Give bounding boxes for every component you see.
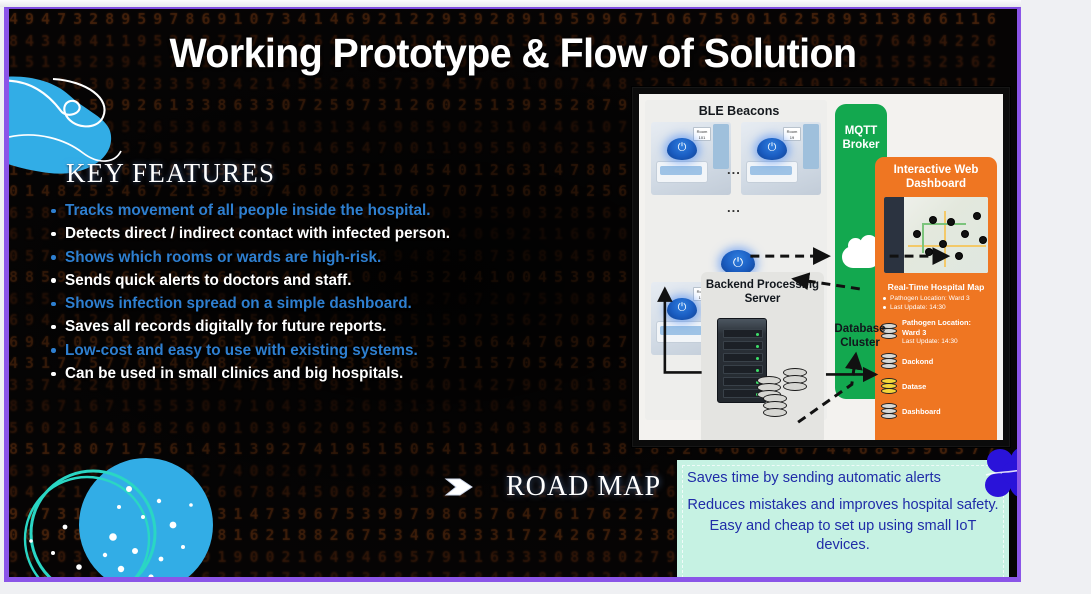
feature-list-item: Detects direct / indirect contact with i… <box>45 222 605 245</box>
db-cluster-line2: Cluster <box>840 337 880 349</box>
feature-list-item: Saves all records digitally for future r… <box>45 315 605 338</box>
feature-list-item: Can be used in small clinics and big hos… <box>45 362 605 385</box>
roadmap-row[interactable]: ROAD MAP <box>444 471 661 503</box>
ble-beacon-icon: ⏻ <box>667 138 697 160</box>
dashboard-label-line2: Dashboard <box>906 178 966 190</box>
feature-list-item: Low-cost and easy to use with existing s… <box>45 339 605 362</box>
benefit-line-1: Saves time by sending automatic alerts <box>687 469 999 488</box>
features-list: Tracks movement of all people inside the… <box>45 199 605 385</box>
database-icon <box>881 403 897 422</box>
database-icon <box>881 378 897 397</box>
ble-beacon-icon: ⏻ <box>667 298 697 320</box>
database-entry: Dackond <box>881 353 991 372</box>
room-sign: Room 101 <box>693 127 711 141</box>
window-top-strip <box>0 0 1021 7</box>
dashboard-bullet: Pathogen Location: Ward 3 <box>881 294 991 303</box>
backend-label-line1: Backend Processing <box>706 279 819 291</box>
ble-beacon-icon: ⏻ <box>757 138 787 160</box>
presentation-slide: 4947328959786910734146921229392891959967… <box>4 7 1021 582</box>
mqtt-label-line2: Broker <box>842 139 879 151</box>
dashboard-bullet: Last Update: 14:30 <box>881 303 991 312</box>
database-entry-label: Dashboard <box>902 407 941 417</box>
architecture-diagram: BLE Beacons Room 101 ⏻ Room 19 ⏻ <box>632 87 1010 447</box>
ellipsis-label: ... <box>727 162 741 177</box>
page-title: Working Prototype & Flow of Solution <box>29 30 997 77</box>
db-cluster-line1: Database <box>834 323 885 335</box>
benefits-box: Saves time by sending automatic alerts R… <box>677 460 1009 582</box>
dashboard-screenshot <box>884 197 988 273</box>
blue-circle-decoration <box>4 441 231 582</box>
database-entry: Dashboard <box>881 403 991 422</box>
roadmap-label: ROAD MAP <box>506 471 661 503</box>
screenshot-root: 4947328959786910734146921229392891959967… <box>0 0 1091 594</box>
hospital-room: Room 19 ⏻ <box>741 122 821 195</box>
benefit-line-2: Reduces mistakes and improves hospital s… <box>687 496 999 515</box>
database-icon <box>763 394 787 420</box>
chevron-arrow-icon <box>444 475 482 499</box>
database-entry: Pathogen Location: Ward 3 Last Update: 1… <box>881 318 991 347</box>
dashboard-label-line1: Interactive Web <box>894 164 979 176</box>
ble-beacons-label: BLE Beacons <box>651 104 827 118</box>
feature-list-item: Sends quick alerts to doctors and staff. <box>45 269 605 292</box>
feature-list-item: Shows infection spread on a simple dashb… <box>45 292 605 315</box>
feature-list-item: Shows which rooms or wards are high-risk… <box>45 246 605 269</box>
database-entry-label: Datase <box>902 382 926 392</box>
database-entry-sub: Last Update: 14:30 <box>902 337 991 347</box>
backend-processing-server-block: Backend Processing Server <box>701 272 824 440</box>
key-features-heading: KEY FEATURES <box>66 158 275 189</box>
mqtt-label-line1: MQTT <box>845 125 878 137</box>
interactive-web-dashboard-panel: Interactive Web Dashboard <box>875 157 997 279</box>
database-icon <box>783 368 807 394</box>
backend-label-line2: Server <box>745 293 781 305</box>
database-entry-label: Pathogen Location: Ward 3 <box>902 318 971 337</box>
room-sign: Room 19 <box>783 127 801 141</box>
dashboard-details-panel: Real-Time Hospital Map Pathogen Location… <box>875 279 997 440</box>
ellipsis-label: ... <box>727 200 741 215</box>
hospital-room: Room 101 ⏻ <box>651 122 731 195</box>
benefit-line-3: Easy and cheap to set up using small IoT… <box>687 517 999 555</box>
hospital-map-caption: Real-Time Hospital Map <box>881 282 991 292</box>
database-cluster-label: Database Cluster <box>825 322 895 350</box>
database-entry-label: Dackond <box>902 357 933 367</box>
database-entry: Datase <box>881 378 991 397</box>
database-icon <box>881 353 897 372</box>
feature-list-item: Tracks movement of all people inside the… <box>45 199 605 222</box>
